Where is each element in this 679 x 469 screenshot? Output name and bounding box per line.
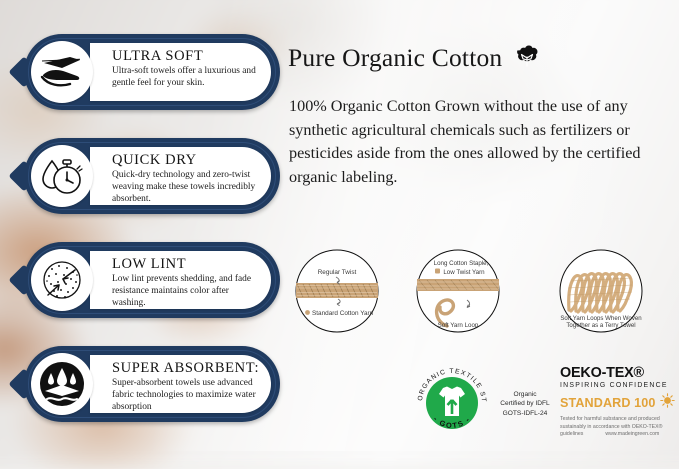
feature-title: SUPER ABSORBENT: (112, 360, 259, 377)
cotton-boll-icon (514, 44, 540, 73)
gots-caption-line2: Certified by IDFL (496, 399, 554, 408)
hero-title-row: Pure Organic Cotton (288, 43, 540, 73)
sun-icon (660, 393, 675, 413)
gots-logo: GLOBAL ORGANIC TEXTILE STANDARD - GOTS - (413, 364, 491, 442)
certification-row: GLOBAL ORGANIC TEXTILE STANDARD - GOTS -… (288, 358, 679, 446)
yarn-top-label-line2: Low Twist Yarn (443, 269, 485, 276)
yarn-bottom-label: Soft Yarn Loop (438, 322, 479, 329)
oekotex-fine-line1: Tested for harmful substance and produce… (560, 416, 676, 424)
yarn-bottom-label-line1: Soft Yarn Loops When Woven (560, 315, 641, 322)
water-absorption-icon (38, 360, 86, 408)
oekotex-fine-print: Tested for harmful substance and produce… (560, 416, 676, 439)
oekotex-fine-line2: sustainably in accordance with OEKO-TEX® (560, 424, 676, 432)
oekotex-standard-text: STANDARD 100 (560, 397, 655, 410)
feature-card-quick-dry[interactable]: QUICK DRY Quick-dry technology and zero-… (24, 138, 280, 214)
gots-caption-line3: GOTS-IDFL-24 (496, 409, 554, 418)
oekotex-tagline: INSPIRING CONFIDENCE (560, 383, 676, 390)
hand-feather-icon (40, 55, 84, 89)
oekotex-brand-text: OEKO-TEX® (560, 366, 676, 380)
feature-description: Ultra-soft towels offer a luxurious and … (112, 66, 259, 90)
feature-text-panel: SUPER ABSORBENT: Super-absorbent towels … (90, 355, 271, 413)
regular-twist-diagram: Regular Twist Standard Cotton Yarn (294, 248, 380, 334)
feature-icon-circle (31, 145, 93, 207)
yarn-diagram-row: Regular Twist Standard Cotton Yarn Long … (288, 248, 679, 340)
terry-loops-diagram: Soft Yarn Loops When Woven Together as a… (540, 248, 662, 334)
oekotex-fine-line3: guidelines (560, 431, 583, 439)
feature-description: Super-absorbent towels use advanced fabr… (112, 378, 259, 414)
feature-title: QUICK DRY (112, 152, 259, 169)
feature-list: ULTRA SOFT Ultra-soft towels offer a lux… (24, 34, 280, 450)
oekotex-logo: OEKO-TEX® INSPIRING CONFIDENCE STANDARD … (560, 366, 676, 439)
yarn-bottom-label: Standard Cotton Yarn (312, 310, 374, 317)
yarn-top-label-line1: Long Cotton Staple, (434, 260, 489, 267)
hero-body-text: 100% Organic Cotton Grown without the us… (289, 95, 669, 190)
right-content-column: Pure Organic Cotton 100% Organic Cotton … (288, 0, 679, 451)
feature-description: Low lint prevents shedding, and fade res… (112, 274, 259, 310)
oekotex-standard-row: STANDARD 100 (560, 393, 676, 413)
feature-card-low-lint[interactable]: LOW LINT Low lint prevents shedding, and… (24, 242, 280, 318)
feature-description: Quick-dry technology and zero-twist weav… (112, 170, 259, 206)
feature-text-panel: ULTRA SOFT Ultra-soft towels offer a lux… (90, 43, 271, 101)
feature-text-panel: QUICK DRY Quick-dry technology and zero-… (90, 147, 271, 205)
yarn-top-label: Regular Twist (318, 269, 357, 276)
feature-card-ultra-soft[interactable]: ULTRA SOFT Ultra-soft towels offer a lux… (24, 34, 280, 110)
feature-icon-circle (31, 353, 93, 415)
gots-caption-line1: Organic (496, 390, 554, 399)
page-title: Pure Organic Cotton (288, 43, 502, 73)
low-twist-yarn-diagram: Long Cotton Staple, Low Twist Yarn Soft … (415, 248, 501, 334)
gots-caption: Organic Certified by IDFL GOTS-IDFL-24 (496, 390, 554, 418)
feature-icon-circle (31, 249, 93, 311)
stopwatch-droplet-icon (39, 155, 85, 197)
feature-card-super-absorbent[interactable]: SUPER ABSORBENT: Super-absorbent towels … (24, 346, 280, 422)
feature-title: LOW LINT (112, 256, 259, 273)
oekotex-url[interactable]: www.madeingreen.com (605, 431, 659, 439)
feature-icon-circle (31, 41, 93, 103)
feature-text-panel: LOW LINT Low lint prevents shedding, and… (90, 251, 271, 309)
feature-title: ULTRA SOFT (112, 48, 259, 65)
yarn-bottom-label-line2: Together as a Terry Towel (566, 322, 635, 329)
lint-particles-icon (39, 257, 85, 303)
